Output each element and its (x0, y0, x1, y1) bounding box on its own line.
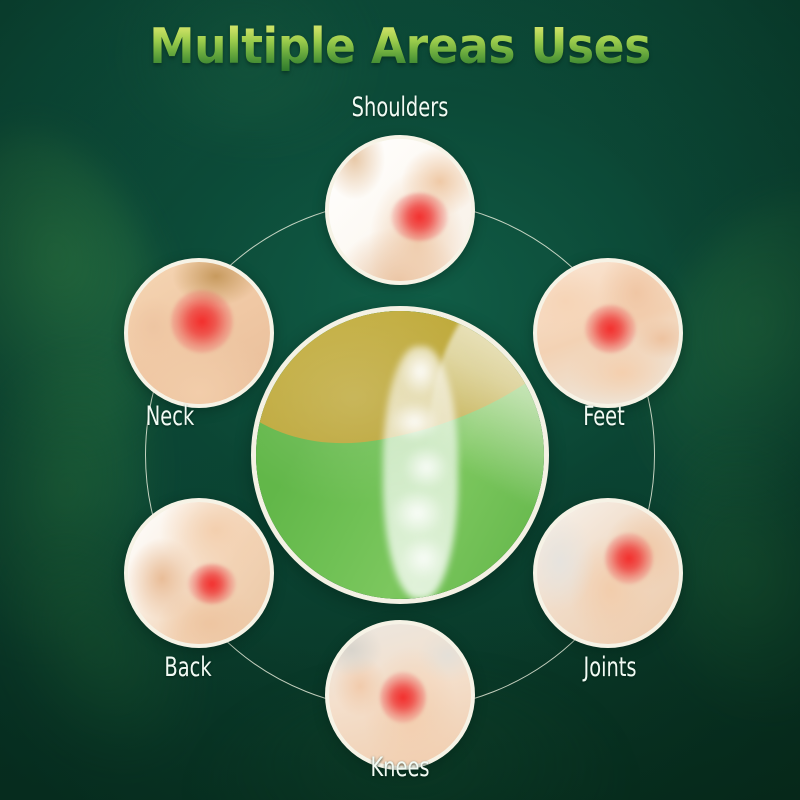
area-node-back[interactable] (124, 498, 274, 648)
gel-sheen (256, 311, 544, 599)
neck-pain-spot (171, 290, 233, 352)
feet-pain-spot (585, 305, 636, 353)
center-product-image (251, 306, 549, 604)
area-node-knees[interactable] (325, 620, 475, 770)
joints-photo (533, 498, 683, 648)
page-title: Multiple Areas Uses (28, 22, 772, 71)
area-label-knees: Knees (312, 752, 488, 783)
neck-photo (124, 258, 274, 408)
joints-photo-art (537, 502, 679, 644)
knees-photo (325, 620, 475, 770)
back-pain-spot (188, 564, 236, 604)
product-infographic-poster: Multiple Areas Uses Shoulders Neck Feet (0, 0, 800, 800)
area-label-shoulders: Shoulders (312, 92, 488, 123)
area-node-neck[interactable] (124, 258, 274, 408)
area-label-joints: Joints (522, 652, 698, 683)
area-label-neck: Neck (82, 401, 258, 432)
feet-photo (533, 258, 683, 408)
area-node-shoulders[interactable] (325, 135, 475, 285)
shoulders-photo (325, 135, 475, 285)
back-photo (124, 498, 274, 648)
area-node-joints[interactable] (533, 498, 683, 648)
area-node-feet[interactable] (533, 258, 683, 408)
area-label-feet: Feet (516, 401, 692, 432)
area-label-back: Back (100, 652, 276, 683)
knees-pain-spot (380, 672, 425, 723)
